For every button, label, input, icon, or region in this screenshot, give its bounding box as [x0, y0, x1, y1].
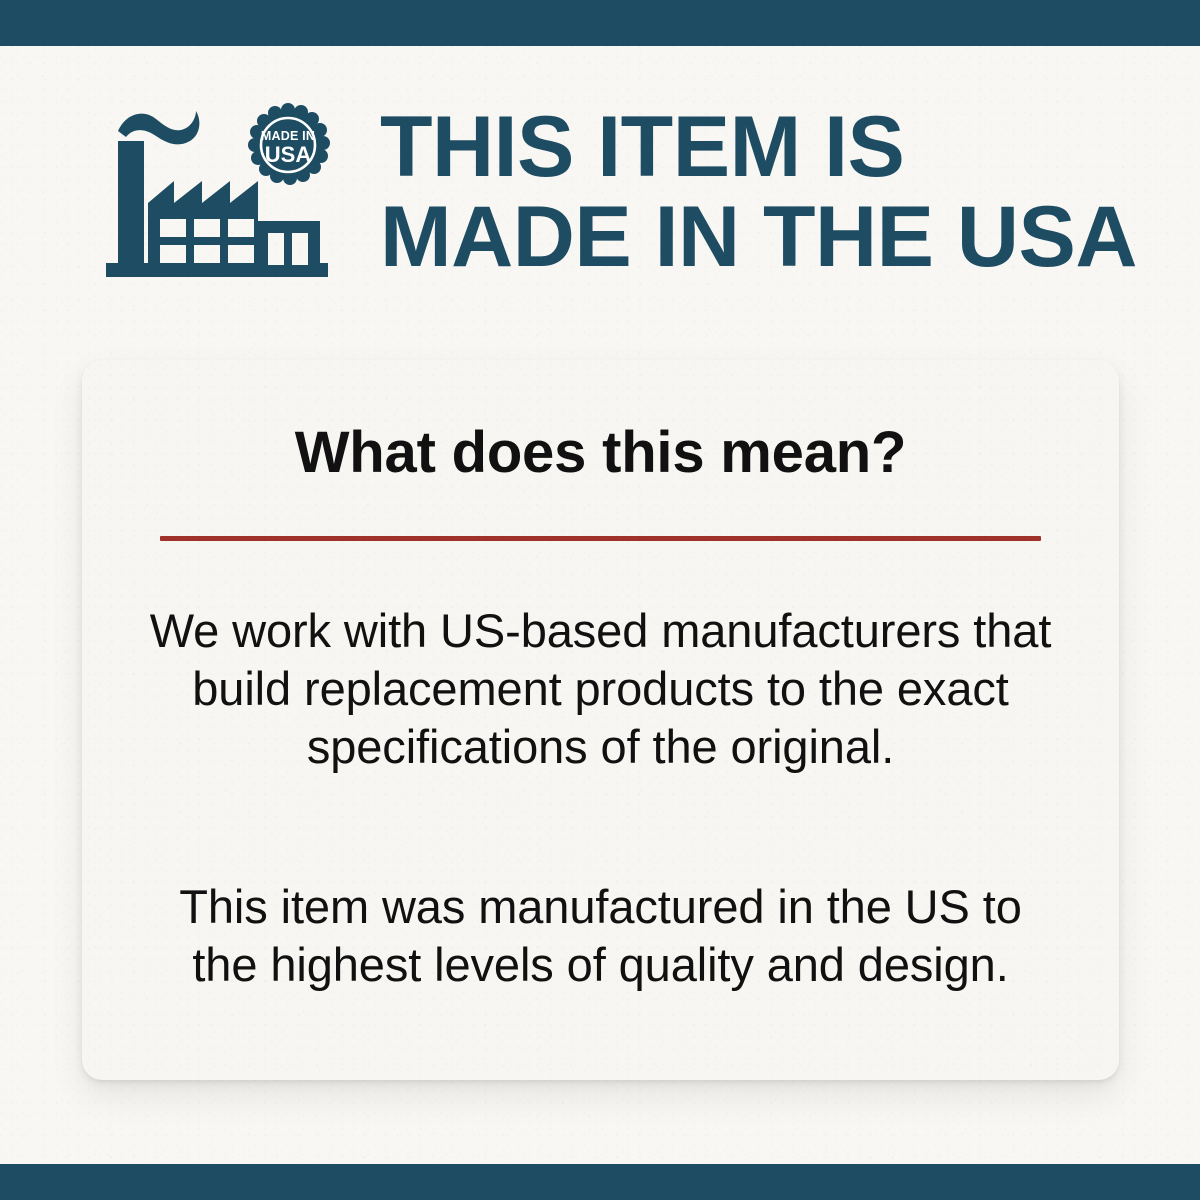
explanation-card: What does this mean? We work with US-bas…: [82, 360, 1119, 1080]
headline-line-2: MADE IN THE USA: [380, 192, 1170, 282]
promo-graphic: MADE IN USA THIS ITEM IS MADE IN THE USA…: [0, 0, 1200, 1200]
made-in-usa-badge-icon: MADE IN USA: [248, 103, 330, 185]
card-paragraph-2: This item was manufactured in the US to …: [142, 878, 1059, 994]
page-title: THIS ITEM IS MADE IN THE USA: [380, 102, 1170, 282]
card-heading: What does this mean?: [82, 422, 1119, 484]
bottom-accent-bar: [0, 1164, 1200, 1200]
badge-text-bottom: USA: [265, 142, 312, 167]
header-banner: MADE IN USA THIS ITEM IS MADE IN THE USA: [0, 46, 1200, 296]
factory-icon: MADE IN USA: [100, 103, 340, 283]
badge-text-top: MADE IN: [261, 129, 315, 143]
headline-line-1: THIS ITEM IS: [380, 102, 1170, 192]
top-accent-bar: [0, 0, 1200, 46]
red-divider: [160, 536, 1041, 541]
card-paragraph-1: We work with US-based manufacturers that…: [142, 602, 1059, 776]
